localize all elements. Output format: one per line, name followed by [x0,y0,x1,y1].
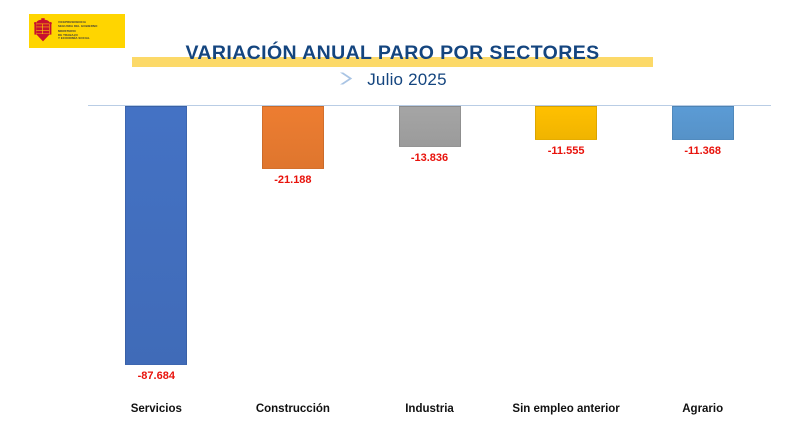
category-label-5: Agrario [635,403,771,415]
bar-value-label: -11.555 [504,145,628,157]
title-bar-holder: VARIACIÓN ANUAL PARO POR SECTORES [0,40,785,66]
bar-construcción[interactable] [262,106,324,169]
bar-chart: -87.684Servicios-21.188Construcción-13.8… [0,0,785,442]
page-title: VARIACIÓN ANUAL PARO POR SECTORES [0,40,785,66]
bar-group-4: -11.555Sin empleo anterior [535,106,597,442]
bar-group-1: -87.684Servicios [125,106,187,442]
category-label-4: Sin empleo anterior [498,403,634,415]
bar-group-5: -11.368Agrario [672,106,734,442]
bar-value-label: -11.368 [641,145,765,157]
bar-industria[interactable] [399,106,461,147]
bar-value-label: -13.836 [368,152,492,164]
category-label-3: Industria [361,403,497,415]
bar-servicios[interactable] [125,106,187,365]
bar-group-2: -21.188Construcción [262,106,324,442]
bar-value-label: -87.684 [94,370,218,382]
bar-agrario[interactable] [672,106,734,140]
category-label-1: Servicios [88,403,224,415]
category-label-2: Construcción [225,403,361,415]
bar-group-3: -13.836Industria [399,106,461,442]
chart-plot-area: -87.684Servicios-21.188Construcción-13.8… [88,106,771,442]
bar-sin-empleo-anterior[interactable] [535,106,597,140]
bar-value-label: -21.188 [231,174,355,186]
